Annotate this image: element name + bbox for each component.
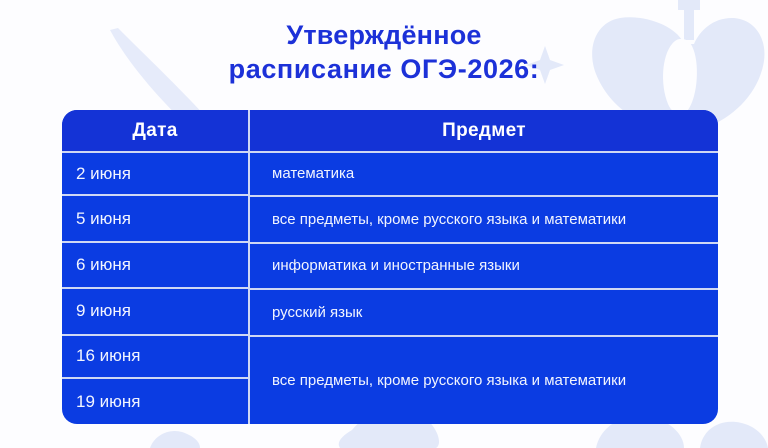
subject-value: все предметы, кроме русского языка и мат…: [272, 209, 626, 230]
date-value: 9 июня: [76, 301, 131, 321]
date-value: 19 июня: [76, 392, 140, 412]
table-row: 19 июня: [62, 379, 248, 424]
subject-column: математика все предметы, кроме русского …: [250, 153, 718, 424]
date-column: 2 июня 5 июня 6 июня 9 июня 16 июня 19 и…: [62, 153, 250, 424]
table-row: 16 июня: [62, 336, 248, 379]
table-body: 2 июня 5 июня 6 июня 9 июня 16 июня 19 и…: [62, 153, 718, 424]
table-row: 9 июня: [62, 289, 248, 336]
subject-value: информатика и иностранные языки: [272, 255, 520, 276]
date-value: 6 июня: [76, 255, 131, 275]
date-value: 2 июня: [76, 164, 131, 184]
subject-cell-merged: все предметы, кроме русского языка и мат…: [250, 337, 718, 424]
schedule-table: Дата Предмет 2 июня 5 июня 6 июня 9 июня: [62, 110, 718, 424]
page-title-line-2: расписание ОГЭ-2026:: [0, 52, 768, 86]
subject-value: русский язык: [272, 302, 362, 323]
column-header-date: Дата: [62, 110, 250, 151]
ornament-watermark-bottom-left: [150, 431, 200, 448]
subject-cell: информатика и иностранные языки: [250, 244, 718, 290]
page-title: Утверждённое расписание ОГЭ-2026:: [0, 18, 768, 86]
table-row: 6 июня: [62, 243, 248, 288]
table-row: 2 июня: [62, 153, 248, 196]
subject-cell: русский язык: [250, 290, 718, 337]
subject-cell: математика: [250, 153, 718, 197]
page-title-line-1: Утверждённое: [0, 18, 768, 52]
table-row: 5 июня: [62, 196, 248, 243]
subject-value: математика: [272, 163, 354, 184]
column-header-subject: Предмет: [250, 110, 718, 151]
table-header-row: Дата Предмет: [62, 110, 718, 153]
poster-canvas: Утверждённое расписание ОГЭ-2026: Дата П…: [0, 0, 768, 448]
subject-value: все предметы, кроме русского языка и мат…: [272, 370, 626, 391]
date-value: 16 июня: [76, 346, 140, 366]
date-value: 5 июня: [76, 209, 131, 229]
subject-cell: все предметы, кроме русского языка и мат…: [250, 197, 718, 244]
